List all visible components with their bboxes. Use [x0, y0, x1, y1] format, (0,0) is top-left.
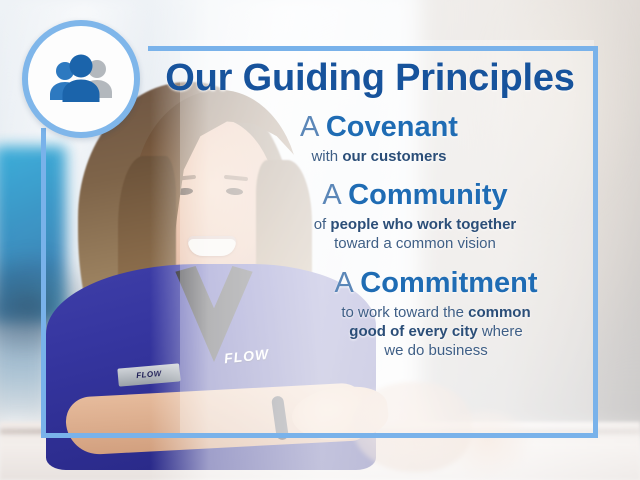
principle-item-covenant: A Covenant with our customers	[150, 112, 590, 166]
principle-keyword: Covenant	[326, 111, 458, 143]
principle-heading: A Commitment	[282, 268, 590, 300]
second-person-hand-2	[442, 410, 532, 480]
content-block: Our Guiding Principles A Covenant with o…	[150, 52, 590, 360]
slide-canvas: FLOW FLOW Our Guiding Principles	[0, 0, 640, 480]
page-title: Our Guiding Principles	[150, 58, 590, 98]
principle-keyword: Commitment	[360, 267, 537, 299]
frame-left-edge	[41, 128, 46, 438]
people-group-icon-badge	[22, 20, 140, 138]
principle-article: A	[300, 111, 318, 143]
frame-bottom-edge	[41, 433, 598, 438]
principle-description: of people who work togethertoward a comm…	[240, 215, 590, 253]
frame-top-edge	[148, 46, 598, 51]
principle-article: A	[334, 267, 352, 299]
principle-heading: A Covenant	[168, 112, 590, 144]
principle-keyword: Community	[348, 179, 508, 211]
principle-article: A	[322, 179, 340, 211]
principle-description: with our customers	[168, 147, 590, 166]
principle-item-commitment: A Commitment to work toward the commongo…	[150, 268, 590, 360]
principle-description: to work toward the commongood of every c…	[282, 303, 590, 361]
principle-heading: A Community	[240, 180, 590, 212]
people-group-icon	[47, 54, 115, 104]
frame-right-edge	[593, 46, 598, 438]
principle-item-community: A Community of people who work togethert…	[150, 180, 590, 253]
